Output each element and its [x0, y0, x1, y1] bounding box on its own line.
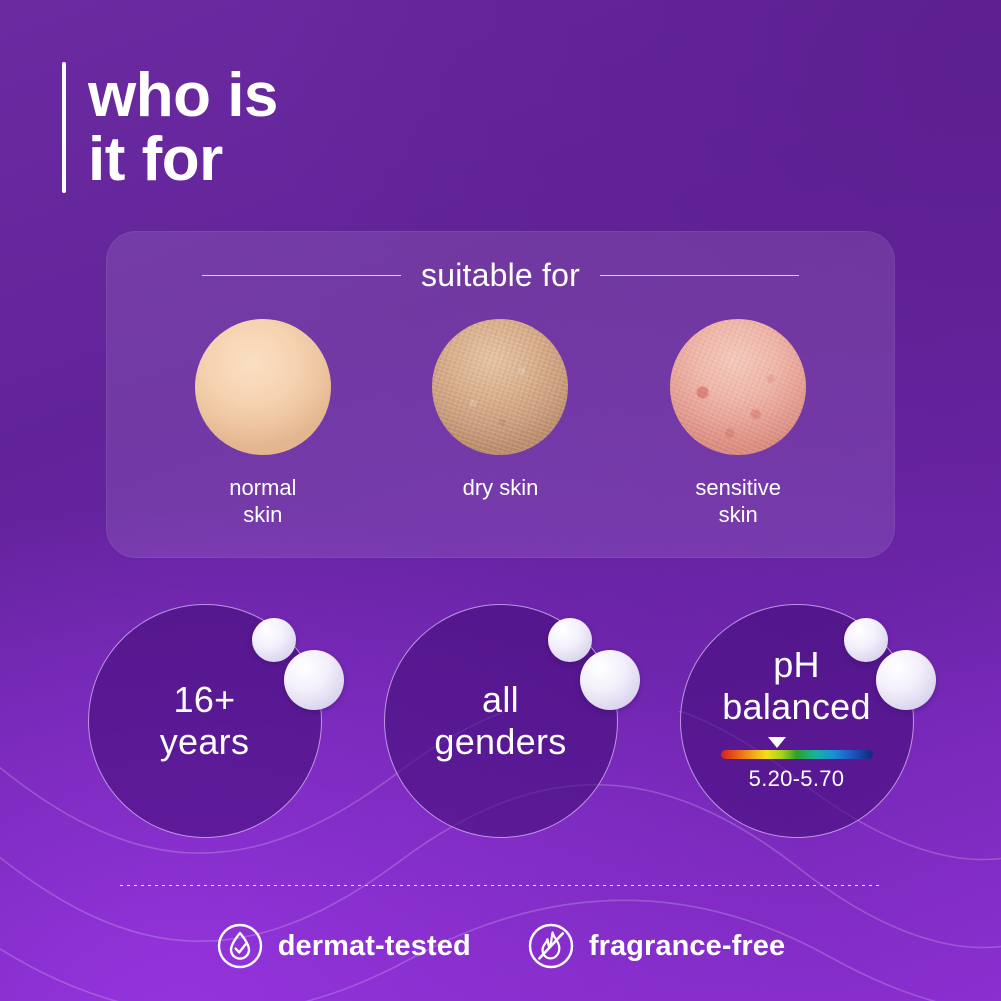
title-text: who is it for — [88, 62, 278, 193]
skin-type-list: normal skin dry skin sensitive skin — [144, 319, 857, 529]
feature-circle-gender: all genders — [384, 604, 618, 838]
skin-type-label: normal skin — [229, 475, 296, 529]
feature-label: all genders — [434, 679, 566, 763]
skin-sensitive-swatch-icon — [670, 319, 806, 455]
suitable-for-card: suitable for normal skin dry skin sensit… — [106, 231, 895, 558]
droplet-check-icon — [216, 922, 264, 970]
badge-label: dermat-tested — [278, 932, 471, 961]
page-title: who is it for — [62, 62, 278, 193]
who-is-it-for-infographic: who is it for suitable for normal skin d… — [0, 0, 1001, 1001]
circle-content: pH balanced 5.20-5.70 — [680, 604, 914, 838]
badge-label: fragrance-free — [589, 932, 785, 961]
no-fragrance-icon — [527, 922, 575, 970]
skin-normal-swatch-icon — [195, 319, 331, 455]
skin-type-item-normal: normal skin — [160, 319, 365, 529]
header-rule-left — [202, 275, 401, 276]
ph-marker-icon — [768, 737, 786, 748]
title-accent-bar — [62, 62, 66, 193]
circle-content: 16+ years — [88, 604, 322, 838]
feature-circle-ph: pH balanced 5.20-5.70 — [680, 604, 914, 838]
skin-dry-swatch-icon — [432, 319, 568, 455]
feature-circle-age: 16+ years — [88, 604, 322, 838]
skin-type-item-dry: dry skin — [398, 319, 603, 502]
card-title: suitable for — [421, 259, 580, 291]
card-header: suitable for — [202, 259, 799, 291]
circle-content: all genders — [384, 604, 618, 838]
badge-fragrance-free: fragrance-free — [527, 922, 785, 970]
feature-circle-list: 16+ years all genders pH balanced — [0, 604, 1001, 852]
skin-type-label: dry skin — [463, 475, 539, 502]
ph-range-label: 5.20-5.70 — [749, 766, 845, 792]
feature-label: pH balanced — [722, 644, 871, 728]
feature-label: 16+ years — [160, 679, 250, 763]
badge-dermat-tested: dermat-tested — [216, 922, 471, 970]
footer-divider — [120, 885, 880, 886]
skin-type-label: sensitive skin — [695, 475, 781, 529]
skin-type-item-sensitive: sensitive skin — [636, 319, 841, 529]
ph-gradient-bar — [721, 750, 873, 759]
header-rule-right — [600, 275, 799, 276]
ph-meter: 5.20-5.70 — [721, 737, 873, 792]
certification-badge-list: dermat-tested fragrance-free — [0, 922, 1001, 970]
